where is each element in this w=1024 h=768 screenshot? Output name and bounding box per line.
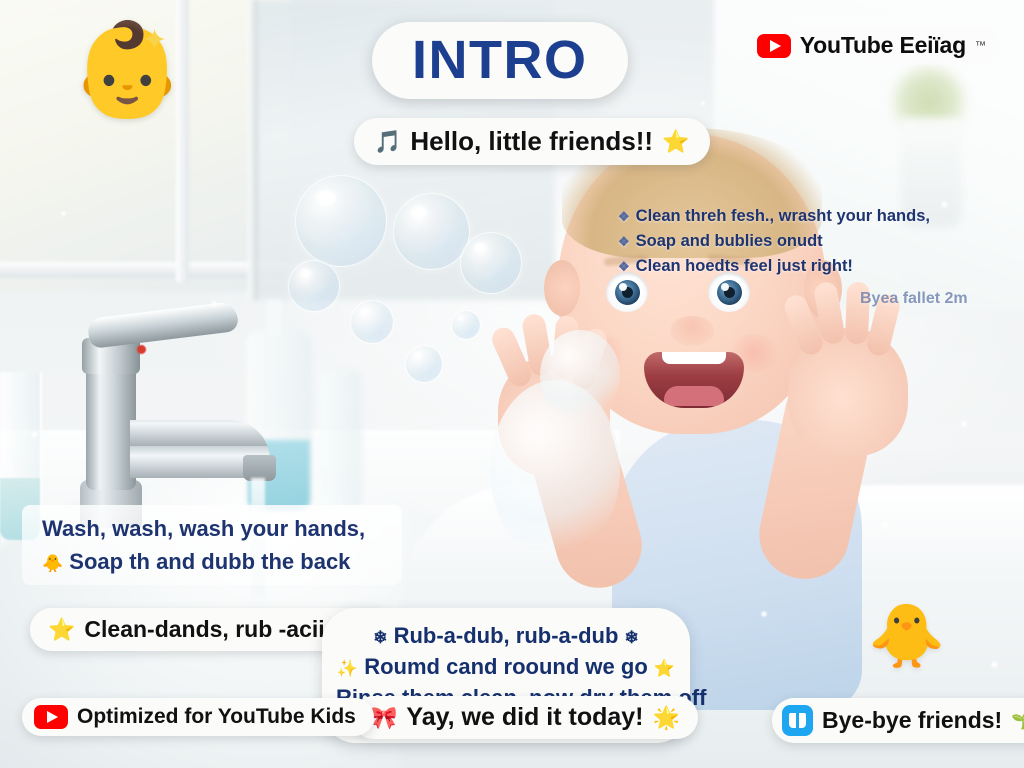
snowflake-emoji: ❄ — [373, 628, 387, 647]
seedling-emoji: 🌱 — [1011, 712, 1024, 729]
book-icon — [782, 705, 813, 736]
bullet-line: ❖Clean threh fesh., wrasht your hands, — [618, 204, 930, 229]
yay-label: Yay, we did it today! — [406, 703, 643, 732]
soap-bubble — [451, 310, 481, 340]
star-emoji: ⭐ — [654, 659, 675, 678]
clean-hands-label: Clean-dands, rub -aciio — [84, 616, 338, 643]
baby-iris-left — [615, 280, 640, 305]
duckling-emoji: 🐥 — [868, 606, 945, 668]
youtube-kids-label: Optimized for YouTube Kids — [77, 705, 356, 729]
faded-note-text: Byea fallet 2m — [860, 290, 968, 308]
rub-line-text: Roumd cand roound we go — [364, 654, 648, 679]
soap-bubble — [405, 345, 443, 383]
ribbon-emoji: 🎀 — [370, 707, 397, 729]
intro-title-badge: INTRO — [372, 22, 628, 99]
bullet-marker: ❖ — [618, 234, 630, 249]
sparkle-star-icon: ✦ — [142, 26, 167, 56]
baby-tongue — [664, 386, 724, 406]
faucet-body — [86, 360, 136, 490]
wash-lyric-line-2: 🐥 Soap th and dubb the back — [42, 545, 402, 578]
mirror-edge — [248, 0, 258, 300]
baby-face-emoji: 👶 — [70, 24, 185, 116]
bye-bye-pill: Bye-bye friends! 🌱 — [772, 698, 1024, 743]
baby-nose — [670, 316, 714, 346]
hello-greeting-label: Hello, little friends!! — [410, 126, 653, 157]
trademark-mark: ™ — [975, 40, 986, 52]
baby-ear-left — [544, 260, 580, 316]
snowflake-emoji: ❄ — [625, 628, 639, 647]
page-title: INTRO — [412, 32, 588, 89]
bullet-list: ❖Clean threh fesh., wrasht your hands, ❖… — [618, 204, 930, 279]
hello-greeting-pill: 🎵 Hello, little friends!! ⭐ — [354, 118, 710, 165]
wash-lyrics-band: Wash, wash, wash your hands, 🐥 Soap th a… — [22, 505, 402, 585]
rub-line: ✨ Roumd cand roound we go ⭐ — [336, 651, 676, 682]
wash-lyric-line: Wash, wash, wash your hands, — [42, 512, 402, 545]
soap-pump — [266, 300, 282, 336]
baby-eye-glint-right — [721, 283, 729, 291]
youtube-play-icon — [34, 705, 68, 729]
rub-line-text: Rub-a-dub, rub-a-dub — [394, 623, 619, 648]
wash-lyric-text: Soap th and dubb the back — [69, 549, 350, 574]
faucet-hot-indicator — [137, 345, 146, 354]
bullet-text: Clean threh fesh., wrasht your hands, — [636, 207, 930, 225]
bullet-line: ❖Soap and bublies onudt — [618, 229, 930, 254]
soap-bubble — [460, 232, 522, 294]
rub-line: ❄ Rub-a-dub, rub-a-dub ❄ — [336, 620, 676, 651]
sparkle-emoji: ✨ — [337, 659, 358, 678]
baby-iris-right — [717, 280, 742, 305]
soap-bubble — [350, 300, 394, 344]
youtube-play-icon — [757, 34, 791, 58]
soap-bubble — [393, 193, 470, 270]
yay-celebration-pill: 🎀 Yay, we did it today! 🌟 — [352, 696, 698, 739]
bullet-marker: ❖ — [618, 209, 630, 224]
bullet-text: Soap and bublies onudt — [636, 232, 823, 250]
star-emoji: ⭐ — [48, 619, 75, 641]
baby-teeth — [662, 352, 726, 364]
star-emoji: ⭐ — [662, 131, 689, 153]
bye-bye-label: Bye-bye friends! — [822, 707, 1002, 734]
soap-bubble — [295, 175, 387, 267]
bullet-marker: ❖ — [618, 259, 630, 274]
glowing-star-emoji: 🌟 — [653, 707, 680, 729]
soap-bottle-secondary — [318, 370, 362, 510]
duckling-emoji: 🐥 — [42, 554, 63, 573]
baby-hand-right — [788, 328, 908, 456]
slide-canvas: 👶 ✦ INTRO YouTube Eeiïag ™ 🎵 Hello, litt… — [0, 0, 1024, 768]
youtube-badge-label: YouTube Eeiïag — [800, 32, 966, 59]
youtube-brand-badge[interactable]: YouTube Eeiïag ™ — [747, 26, 1000, 65]
baby-eye-glint-left — [619, 283, 627, 291]
bullet-line: ❖Clean hoedts feel just right! — [618, 254, 930, 279]
bullet-text: Clean hoedts feel just right! — [636, 257, 853, 275]
soap-foam — [540, 330, 620, 420]
musical-note-emoji: 🎵 — [374, 131, 401, 153]
youtube-kids-badge[interactable]: Optimized for YouTube Kids — [22, 698, 374, 736]
soap-bubble — [288, 260, 340, 312]
